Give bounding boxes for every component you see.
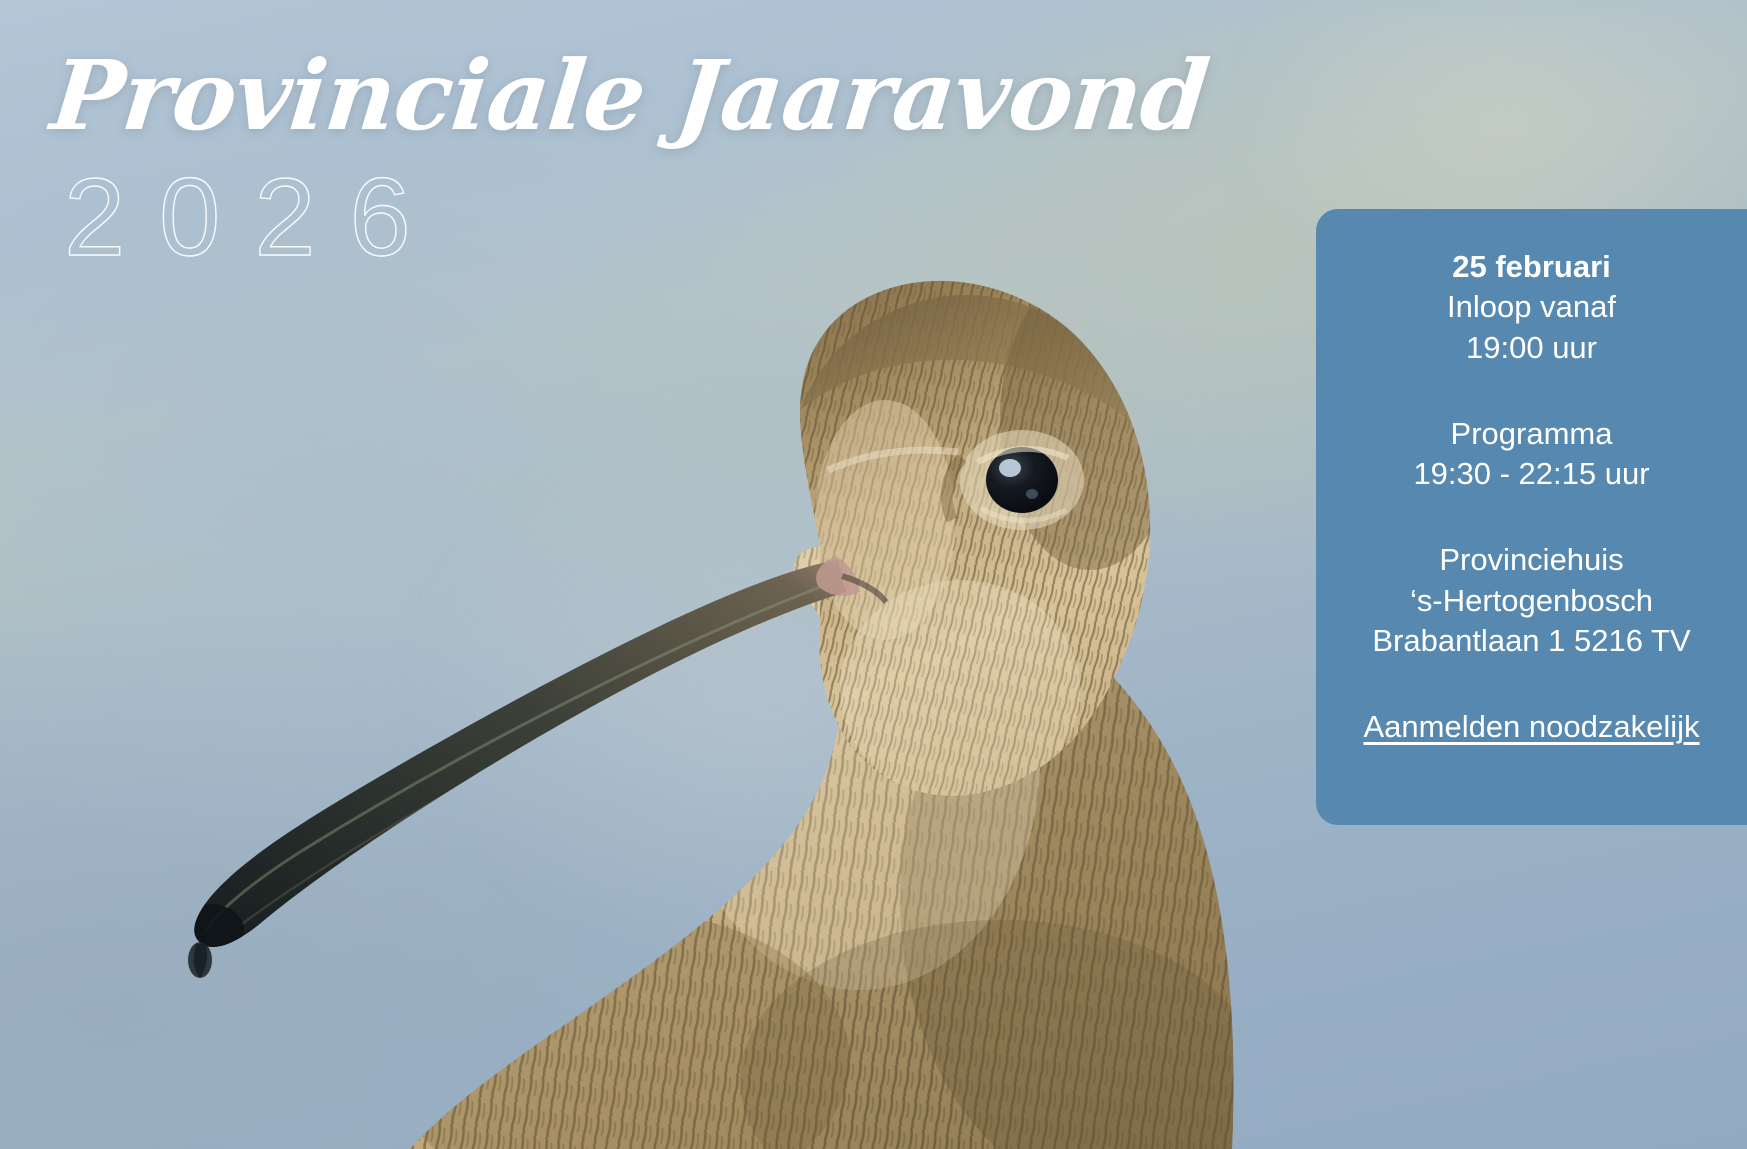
programme-label: Programma <box>1350 414 1713 454</box>
info-group-location: Provinciehuis ‘s-Hertogenbosch Brabantla… <box>1350 540 1713 661</box>
poster-canvas: Provinciale Jaaravond 2026 25 februari I… <box>0 0 1747 1149</box>
doors-open-label: Inloop vanaf <box>1350 287 1713 327</box>
doors-open-time: 19:00 uur <box>1350 328 1713 368</box>
venue-city: ‘s-Hertogenbosch <box>1350 581 1713 621</box>
event-date: 25 februari <box>1350 247 1713 287</box>
venue-name: Provinciehuis <box>1350 540 1713 580</box>
poster-year: 2026 <box>64 163 1207 273</box>
info-group-arrival: 25 februari Inloop vanaf 19:00 uur <box>1350 247 1713 368</box>
info-group-programme: Programma 19:30 - 22:15 uur <box>1350 414 1713 495</box>
event-info-panel: 25 februari Inloop vanaf 19:00 uur Progr… <box>1316 209 1747 825</box>
title-block: Provinciale Jaaravond 2026 <box>52 46 1207 273</box>
venue-address: Brabantlaan 1 5216 TV <box>1350 621 1713 661</box>
info-group-registration: Aanmelden noodzakelijk <box>1350 707 1713 747</box>
registration-link[interactable]: Aanmelden noodzakelijk <box>1363 707 1699 747</box>
page-title: Provinciale Jaaravond <box>47 46 1213 147</box>
programme-time: 19:30 - 22:15 uur <box>1350 454 1713 494</box>
